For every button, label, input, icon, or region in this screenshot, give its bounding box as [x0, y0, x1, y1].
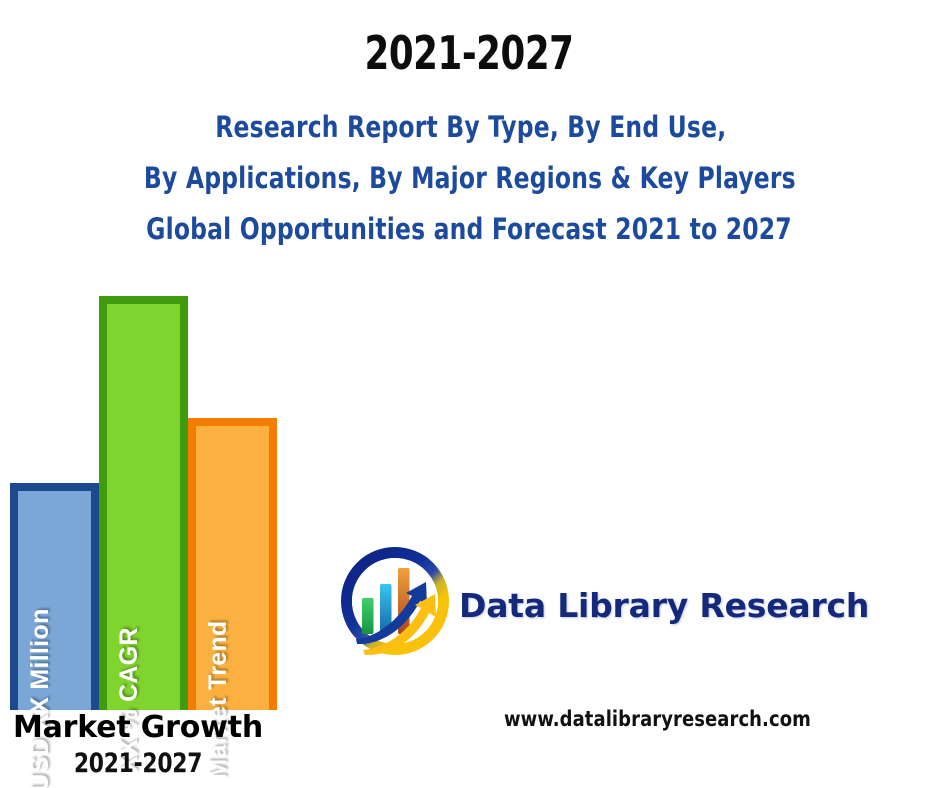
- bar-market-trend: Market Trend: [188, 418, 277, 710]
- brand-name: Data Library Research: [459, 586, 869, 625]
- subtitle-line-1: Research Report By Type, By End Use,: [47, 102, 891, 153]
- bar-cagr: XX % CAGR: [99, 296, 188, 710]
- bar-cagr-fill: [107, 304, 180, 710]
- bar-usd-million-fill: [18, 491, 91, 710]
- website-url: www.datalibraryresearch.com: [504, 707, 811, 731]
- report-cover-canvas: 2021-2027 Research Report By Type, By En…: [0, 0, 938, 788]
- chart-subtitle: 2021-2027: [14, 748, 262, 779]
- bar-market-trend-fill: [196, 426, 269, 710]
- data-library-research-logo-icon: [336, 542, 454, 660]
- chart-title: Market Growth: [0, 710, 276, 745]
- subtitle-block: Research Report By Type, By End Use, By …: [0, 102, 938, 255]
- subtitle-line-3: Global Opportunities and Forecast 2021 t…: [47, 204, 891, 255]
- market-growth-bar-chart: USD XX Million XX % CAGR Market Trend: [0, 290, 300, 710]
- subtitle-line-2: By Applications, By Major Regions & Key …: [47, 153, 891, 204]
- bar-usd-million: USD XX Million: [10, 483, 99, 710]
- page-title: 2021-2027: [66, 26, 873, 80]
